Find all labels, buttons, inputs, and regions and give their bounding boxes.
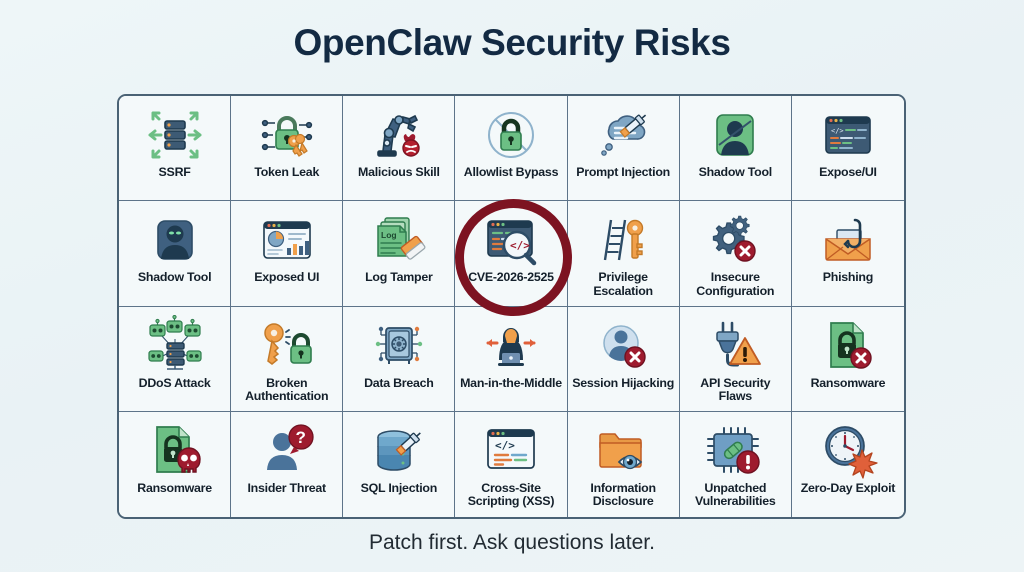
risk-cell[interactable]: Prompt Injection	[568, 96, 680, 201]
gears-error-icon	[680, 208, 791, 271]
risk-cell[interactable]: API Security Flaws	[680, 307, 792, 412]
risk-cell[interactable]: Ransomware	[119, 412, 231, 517]
svg-text:?: ?	[295, 428, 305, 447]
risk-cell-label: Information Disclosure	[568, 482, 679, 509]
risk-cell[interactable]: Token Leak	[231, 96, 343, 201]
risk-cell[interactable]: Insecure Configuration	[680, 201, 792, 306]
user-question-icon: ?	[231, 419, 342, 482]
risk-cell[interactable]: Allowlist Bypass	[455, 96, 567, 201]
envelope-hook-icon	[792, 208, 904, 271]
risk-cell-label: Malicious Skill	[355, 166, 443, 179]
risk-cell-label: Shadow Tool	[696, 166, 775, 179]
clock-explosion-icon	[792, 419, 904, 482]
risk-cell[interactable]: Session Hijacking	[568, 307, 680, 412]
risk-cell-label: Unpatched Vulnerabilities	[680, 482, 791, 509]
risk-cell-label: Log Tamper	[362, 271, 436, 284]
padlock-keys-icon	[231, 103, 342, 166]
risk-cell[interactable]: Shadow Tool	[119, 201, 231, 306]
risk-cell[interactable]: Ransomware	[792, 307, 904, 412]
database-syringe-icon	[343, 419, 454, 482]
padlock-no-entry-icon	[455, 103, 566, 166]
code-window-magnifier-icon: </>	[455, 208, 566, 271]
page-title: OpenClaw Security Risks	[0, 22, 1024, 64]
risk-cell-label: Phishing	[820, 271, 876, 284]
risk-cell[interactable]: Zero-Day Exploit	[792, 412, 904, 517]
log-eraser-icon: Log	[343, 208, 454, 271]
risk-cell-label: Zero-Day Exploit	[798, 482, 898, 495]
risk-cell[interactable]: </> CVE-2026-2525	[455, 201, 567, 306]
risk-cell[interactable]: Exposed UI	[231, 201, 343, 306]
ladder-key-icon	[568, 208, 679, 271]
risk-cell-label: Cross-Site Scripting (XSS)	[455, 482, 566, 509]
risk-cell-label: Expose/UI	[816, 166, 880, 179]
risk-cell[interactable]: DDoS Attack	[119, 307, 231, 412]
browser-code-icon: </>	[455, 419, 566, 482]
risk-cell-label: Allowlist Bypass	[461, 166, 561, 179]
risk-cell[interactable]: </> Expose/UI	[792, 96, 904, 201]
svg-text:Log: Log	[381, 230, 397, 240]
risk-cell-label: Privilege Escalation	[568, 271, 679, 298]
server-arrows-icon	[119, 103, 230, 166]
risk-cell-label: Prompt Injection	[573, 166, 673, 179]
risk-cell-label: Ransomware	[808, 377, 889, 390]
risk-cell[interactable]: Phishing	[792, 201, 904, 306]
risk-cell[interactable]: SQL Injection	[343, 412, 455, 517]
risk-cell[interactable]: </> Cross-Site Scripting (XSS)	[455, 412, 567, 517]
bots-server-icon	[119, 314, 230, 377]
risk-cell-label: Insider Threat	[244, 482, 328, 495]
cloud-syringe-icon	[568, 103, 679, 166]
plug-warning-icon	[680, 314, 791, 377]
chip-alert-icon	[680, 419, 791, 482]
svg-text:</>: </>	[831, 127, 844, 135]
risk-cell[interactable]: Malicious Skill	[343, 96, 455, 201]
risk-cell-label: Shadow Tool	[135, 271, 214, 284]
risk-cell[interactable]: Information Disclosure	[568, 412, 680, 517]
risk-cell[interactable]: Man-in-the-Middle	[455, 307, 567, 412]
locked-file-error-icon	[792, 314, 904, 377]
risk-cell[interactable]: Data Breach	[343, 307, 455, 412]
risk-cell-label: CVE-2026-2525	[465, 271, 557, 284]
risk-cell[interactable]: Shadow Tool	[680, 96, 792, 201]
risk-grid: SSRF Token Leak	[119, 96, 904, 517]
shadow-figure-green-icon	[680, 103, 791, 166]
user-error-icon	[568, 314, 679, 377]
robot-arm-devil-icon	[343, 103, 454, 166]
dashboard-window-icon	[231, 208, 342, 271]
svg-text:</>: </>	[510, 239, 530, 252]
risk-cell-label: Token Leak	[251, 166, 322, 179]
risk-cell-label: SQL Injection	[358, 482, 440, 495]
risk-cell-label: DDoS Attack	[136, 377, 214, 390]
masked-figure-icon	[119, 208, 230, 271]
svg-text:</>: </>	[495, 439, 515, 452]
safe-circuit-icon	[343, 314, 454, 377]
risk-cell-label: Data Breach	[361, 377, 437, 390]
risk-cell-label: Ransomware	[134, 482, 215, 495]
risk-grid-container: SSRF Token Leak	[117, 94, 906, 519]
risk-cell-label: Man-in-the-Middle	[457, 377, 565, 390]
risk-cell[interactable]: SSRF	[119, 96, 231, 201]
caption-text: Patch first. Ask questions later.	[0, 531, 1024, 555]
hacker-laptop-arrows-icon	[455, 314, 566, 377]
risk-cell[interactable]: Privilege Escalation	[568, 201, 680, 306]
risk-cell-label: SSRF	[156, 166, 194, 179]
risk-cell[interactable]: Broken Authentication	[231, 307, 343, 412]
key-padlock-icon	[231, 314, 342, 377]
risk-cell-label: Exposed UI	[251, 271, 322, 284]
folder-eye-icon	[568, 419, 679, 482]
risk-cell-label: Session Hijacking	[569, 377, 677, 390]
risk-cell-label: Broken Authentication	[231, 377, 342, 404]
locked-file-skull-icon	[119, 419, 230, 482]
risk-cell-label: Insecure Configuration	[680, 271, 791, 298]
risk-cell-label: API Security Flaws	[680, 377, 791, 404]
risk-cell[interactable]: Log Log Tamper	[343, 201, 455, 306]
risk-cell[interactable]: Unpatched Vulnerabilities	[680, 412, 792, 517]
risk-cell[interactable]: ?Insider Threat	[231, 412, 343, 517]
code-window-icon: </>	[792, 103, 904, 166]
